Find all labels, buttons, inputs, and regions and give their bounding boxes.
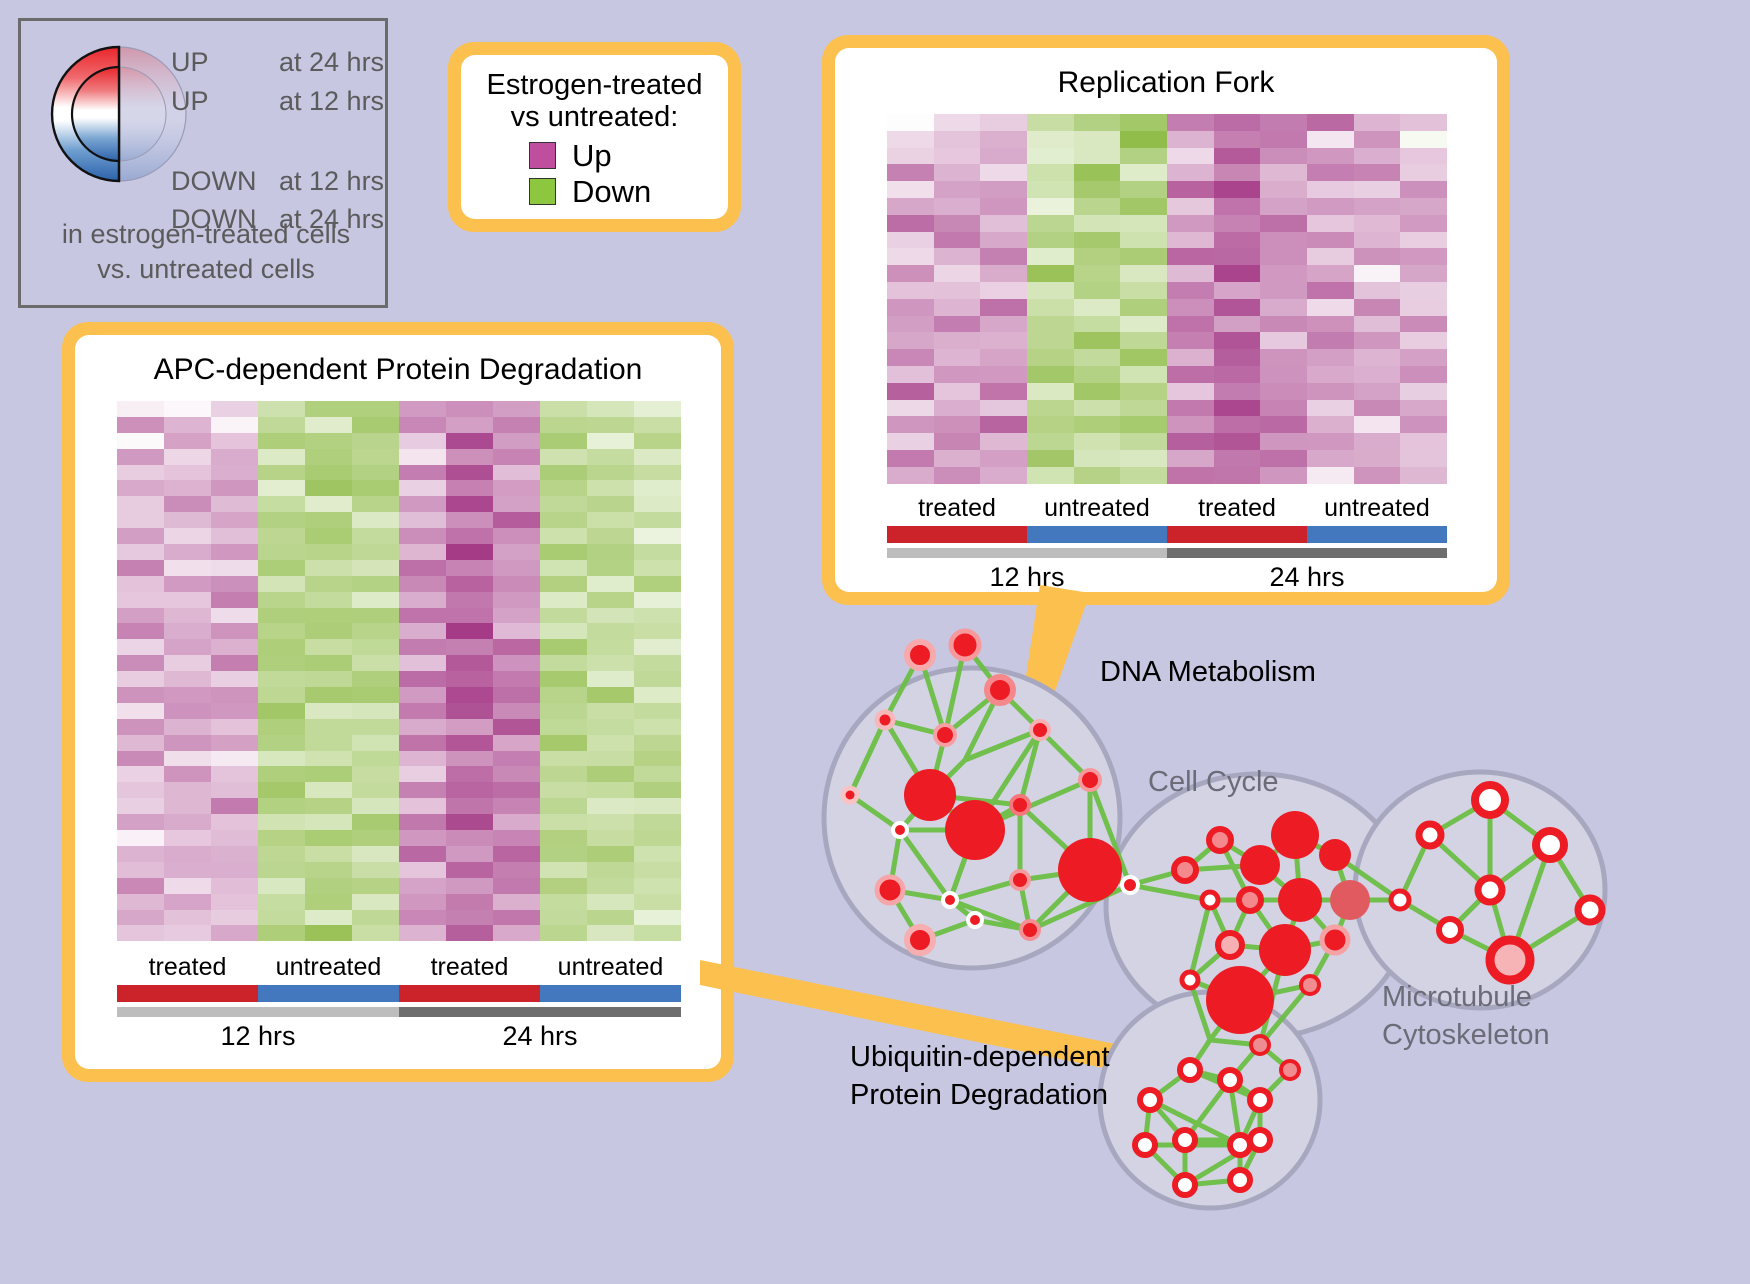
replication-fork-title: Replication Fork — [835, 48, 1497, 100]
apc-degradation-panel: APC-dependent Protein Degradation treate… — [62, 322, 734, 1082]
up-swatch-icon — [529, 142, 556, 169]
apc-degradation-title: APC-dependent Protein Degradation — [75, 335, 721, 387]
updown-legend-title: Estrogen-treated vs untreated: — [477, 69, 712, 134]
updown-legend-inner: Estrogen-treated vs untreated: Up Down — [461, 55, 728, 219]
wheel-time: at 12 hrs — [279, 88, 384, 115]
time-label: 24 hrs — [399, 1021, 681, 1052]
updown-legend-title-line2: vs untreated: — [477, 101, 712, 133]
treatment-label: treated — [1167, 494, 1307, 523]
cluster-label-protein-degradation: Protein Degradation — [850, 1078, 1108, 1113]
heatmap-grid — [887, 114, 1447, 484]
legend-item-up-label: Up — [572, 140, 612, 171]
apc-heatmap — [117, 401, 681, 941]
cluster-label-ubiquitin: Ubiquitin-dependent — [850, 1040, 1110, 1075]
cluster-label-dna-metabolism: DNA Metabolism — [1100, 655, 1316, 690]
network-svg — [790, 600, 1750, 1279]
wheel-direction: DOWN — [171, 168, 279, 195]
wheel-row: UP at 12 hrs — [171, 88, 386, 115]
treatment-color-bar — [887, 526, 1447, 543]
replication-fork-panel: Replication Fork treated untreated treat… — [822, 35, 1510, 605]
treatment-label: untreated — [540, 953, 681, 982]
cluster-label-microtubule: Microtubule — [1382, 980, 1532, 1015]
treatment-label: untreated — [1027, 494, 1167, 523]
treatment-label: treated — [887, 494, 1027, 523]
wheel-time: at 12 hrs — [279, 168, 384, 195]
wheel-time: at 24 hrs — [279, 49, 384, 76]
treatment-label: untreated — [1307, 494, 1447, 523]
cluster-ubiquitin — [1100, 992, 1320, 1208]
wheel-row: DOWN at 12 hrs — [171, 168, 386, 195]
treatment-label: treated — [117, 953, 258, 982]
legend-item-down: Down — [529, 174, 712, 210]
legend-item-down-label: Down — [572, 176, 651, 207]
color-wheel-row-labels: UP at 24 hrs UP at 12 hrs DOWN at 12 hrs… — [171, 49, 386, 233]
replication-fork-inner: Replication Fork treated untreated treat… — [835, 48, 1497, 592]
apc-degradation-inner: APC-dependent Protein Degradation treate… — [75, 335, 721, 1069]
wheel-direction: UP — [171, 88, 279, 115]
heatmap-grid — [117, 401, 681, 941]
treatment-label: treated — [399, 953, 540, 982]
time-labels: 12 hrs 24 hrs — [117, 1021, 681, 1052]
down-swatch-icon — [529, 178, 556, 205]
updown-legend-items: Up Down — [477, 138, 712, 210]
replication-fork-heatmap — [887, 114, 1447, 484]
time-label: 12 hrs — [117, 1021, 399, 1052]
wheel-row: UP at 24 hrs — [171, 49, 386, 76]
replication-fork-axis: treated untreated treated untreated 12 h… — [887, 494, 1447, 593]
wheel-direction: UP — [171, 49, 279, 76]
time-color-bar — [117, 1007, 681, 1017]
apc-axis: treated untreated treated untreated 12 h… — [117, 953, 681, 1052]
figure-root: UP at 24 hrs UP at 12 hrs DOWN at 12 hrs… — [0, 0, 1750, 1279]
treatment-color-bar — [117, 985, 681, 1002]
color-wheel-footer: in estrogen-treated cells vs. untreated … — [21, 217, 391, 286]
updown-legend-panel: Estrogen-treated vs untreated: Up Down — [448, 42, 741, 232]
color-wheel-legend-box: UP at 24 hrs UP at 12 hrs DOWN at 12 hrs… — [18, 18, 388, 308]
color-wheel-footer-line2: vs. untreated cells — [21, 252, 391, 287]
time-label: 24 hrs — [1167, 562, 1447, 593]
cluster-label-cell-cycle: Cell Cycle — [1148, 765, 1279, 800]
legend-item-up: Up — [529, 138, 712, 174]
cluster-label-cytoskeleton: Cytoskeleton — [1382, 1018, 1550, 1053]
treatment-label: untreated — [258, 953, 399, 982]
pathway-network-graph: DNA Metabolism Cell Cycle Microtubule Cy… — [790, 600, 1750, 1279]
color-wheel-footer-line1: in estrogen-treated cells — [21, 217, 391, 252]
treatment-labels: treated untreated treated untreated — [117, 953, 681, 982]
treatment-labels: treated untreated treated untreated — [887, 494, 1447, 523]
time-color-bar — [887, 548, 1447, 558]
updown-legend-title-line1: Estrogen-treated — [477, 69, 712, 101]
